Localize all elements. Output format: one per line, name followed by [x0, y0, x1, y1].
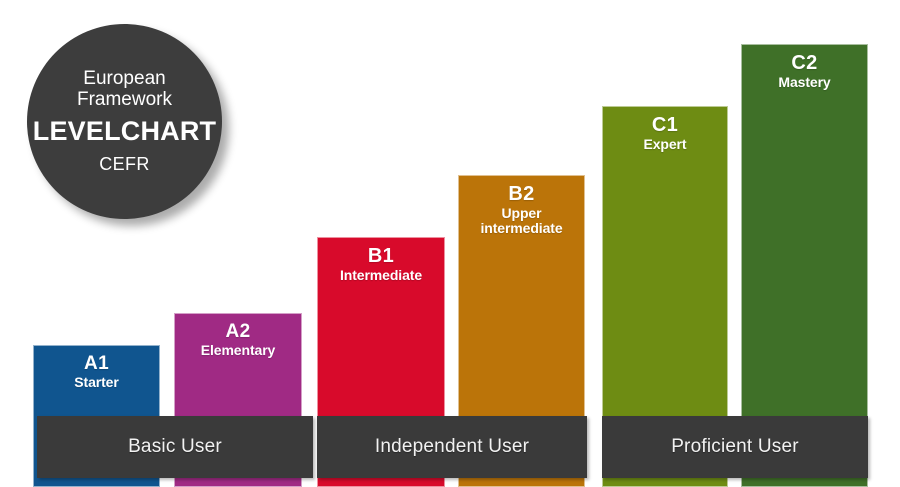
group-band-basic-user: Basic User	[37, 416, 313, 478]
bar-b2-code: B2	[459, 184, 584, 205]
badge-title: LEVELCHART	[33, 116, 217, 147]
badge-subtitle: CEFR	[99, 154, 150, 175]
bar-b1-code: B1	[318, 246, 444, 267]
bar-b1-label: Intermediate	[318, 268, 444, 283]
group-band-proficient-user-label: Proficient User	[671, 436, 799, 458]
bar-a2-label: Elementary	[175, 343, 301, 358]
badge-line-1: European	[83, 68, 165, 89]
group-band-proficient-user: Proficient User	[602, 416, 868, 478]
bar-a1-label: Starter	[34, 375, 159, 390]
bar-b2-label: Upper intermediate	[459, 206, 584, 236]
bar-c2-label: Mastery	[742, 75, 867, 90]
group-band-basic-user-label: Basic User	[128, 436, 222, 458]
cefr-badge: European Framework LEVELCHART CEFR	[27, 24, 222, 219]
group-band-independent-user: Independent User	[317, 416, 587, 478]
bar-c1-code: C1	[603, 115, 727, 136]
level-chart: European Framework LEVELCHART CEFR A1 St…	[0, 0, 900, 487]
badge-line-2: Framework	[77, 89, 172, 110]
bar-a1-code: A1	[34, 354, 159, 374]
bar-c1-label: Expert	[603, 137, 727, 152]
group-band-independent-user-label: Independent User	[375, 436, 529, 458]
bar-c2-code: C2	[742, 53, 867, 74]
bar-a2-code: A2	[175, 322, 301, 342]
